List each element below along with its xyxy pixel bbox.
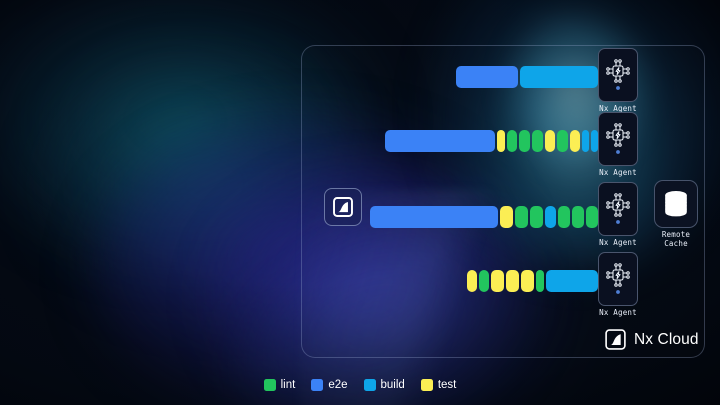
legend-swatch-build bbox=[364, 379, 376, 391]
task-bar-lint[interactable] bbox=[557, 130, 568, 152]
task-bar-e2e[interactable] bbox=[456, 66, 518, 88]
nx-logo-icon bbox=[332, 196, 354, 218]
legend-label-lint: lint bbox=[281, 379, 296, 391]
remote-cache-card[interactable] bbox=[654, 180, 698, 228]
remote-cache-label-line1: Remote bbox=[662, 230, 690, 239]
nx-agent-chip-icon bbox=[605, 120, 631, 158]
task-bar-build[interactable] bbox=[545, 206, 556, 228]
nx-workspace-logo-tile[interactable] bbox=[324, 188, 362, 226]
nx-agent-card-2-label: Nx Agent bbox=[583, 168, 653, 177]
nx-agent-card-1[interactable] bbox=[598, 48, 638, 102]
task-bar-lint[interactable] bbox=[558, 206, 570, 228]
legend-swatch-test bbox=[421, 379, 433, 391]
nx-agent-chip-icon bbox=[605, 56, 631, 94]
legend-item-test[interactable]: test bbox=[421, 379, 457, 391]
nx-agent-chip-icon bbox=[605, 260, 631, 298]
task-bar-test[interactable] bbox=[545, 130, 555, 152]
gantt-row bbox=[467, 270, 598, 292]
nx-agent-card-4[interactable] bbox=[598, 252, 638, 306]
task-bar-lint[interactable] bbox=[536, 270, 544, 292]
nx-agent-card-4-label: Nx Agent bbox=[583, 308, 653, 317]
task-bar-test[interactable] bbox=[467, 270, 477, 292]
nx-logo-icon bbox=[604, 328, 627, 351]
task-bar-lint[interactable] bbox=[530, 206, 543, 228]
gantt-row bbox=[370, 206, 598, 228]
task-bar-e2e[interactable] bbox=[385, 130, 495, 152]
task-bar-lint[interactable] bbox=[507, 130, 517, 152]
legend-swatch-e2e bbox=[311, 379, 323, 391]
task-bar-test[interactable] bbox=[497, 130, 505, 152]
legend-item-build[interactable]: build bbox=[364, 379, 405, 391]
task-bar-lint[interactable] bbox=[572, 206, 584, 228]
task-bar-lint[interactable] bbox=[515, 206, 528, 228]
legend-item-lint[interactable]: lint bbox=[264, 379, 296, 391]
task-bar-test[interactable] bbox=[570, 130, 580, 152]
nx-agent-chip-icon bbox=[605, 190, 631, 228]
legend-item-e2e[interactable]: e2e bbox=[311, 379, 347, 391]
gantt-row bbox=[385, 130, 598, 152]
task-bar-lint[interactable] bbox=[479, 270, 489, 292]
remote-cache-label-line2: Cache bbox=[664, 239, 688, 248]
task-bar-lint[interactable] bbox=[532, 130, 543, 152]
task-bar-build[interactable] bbox=[520, 66, 598, 88]
legend-label-test: test bbox=[438, 379, 457, 391]
task-bar-lint[interactable] bbox=[519, 130, 530, 152]
legend-label-build: build bbox=[381, 379, 405, 391]
database-stack-icon bbox=[661, 188, 691, 220]
diagram-canvas: Nx Agent Nx Agent bbox=[0, 0, 720, 405]
task-bar-build[interactable] bbox=[582, 130, 589, 152]
remote-cache-label: Remote Cache bbox=[641, 230, 711, 249]
task-bar-build[interactable] bbox=[591, 130, 598, 152]
gantt-row bbox=[456, 66, 598, 88]
nx-agent-card-2[interactable] bbox=[598, 112, 638, 166]
legend: linte2ebuildtest bbox=[0, 379, 720, 391]
legend-label-e2e: e2e bbox=[328, 379, 347, 391]
task-bar-lint[interactable] bbox=[586, 206, 598, 228]
task-bar-test[interactable] bbox=[500, 206, 513, 228]
task-bar-test[interactable] bbox=[491, 270, 504, 292]
task-bar-e2e[interactable] bbox=[370, 206, 498, 228]
task-bar-test[interactable] bbox=[506, 270, 519, 292]
task-bar-test[interactable] bbox=[521, 270, 534, 292]
nx-agent-card-3[interactable] bbox=[598, 182, 638, 236]
nx-cloud-brand[interactable]: Nx Cloud bbox=[604, 328, 699, 351]
task-bar-build[interactable] bbox=[546, 270, 598, 292]
nx-cloud-wordmark: Nx Cloud bbox=[634, 331, 699, 349]
legend-swatch-lint bbox=[264, 379, 276, 391]
